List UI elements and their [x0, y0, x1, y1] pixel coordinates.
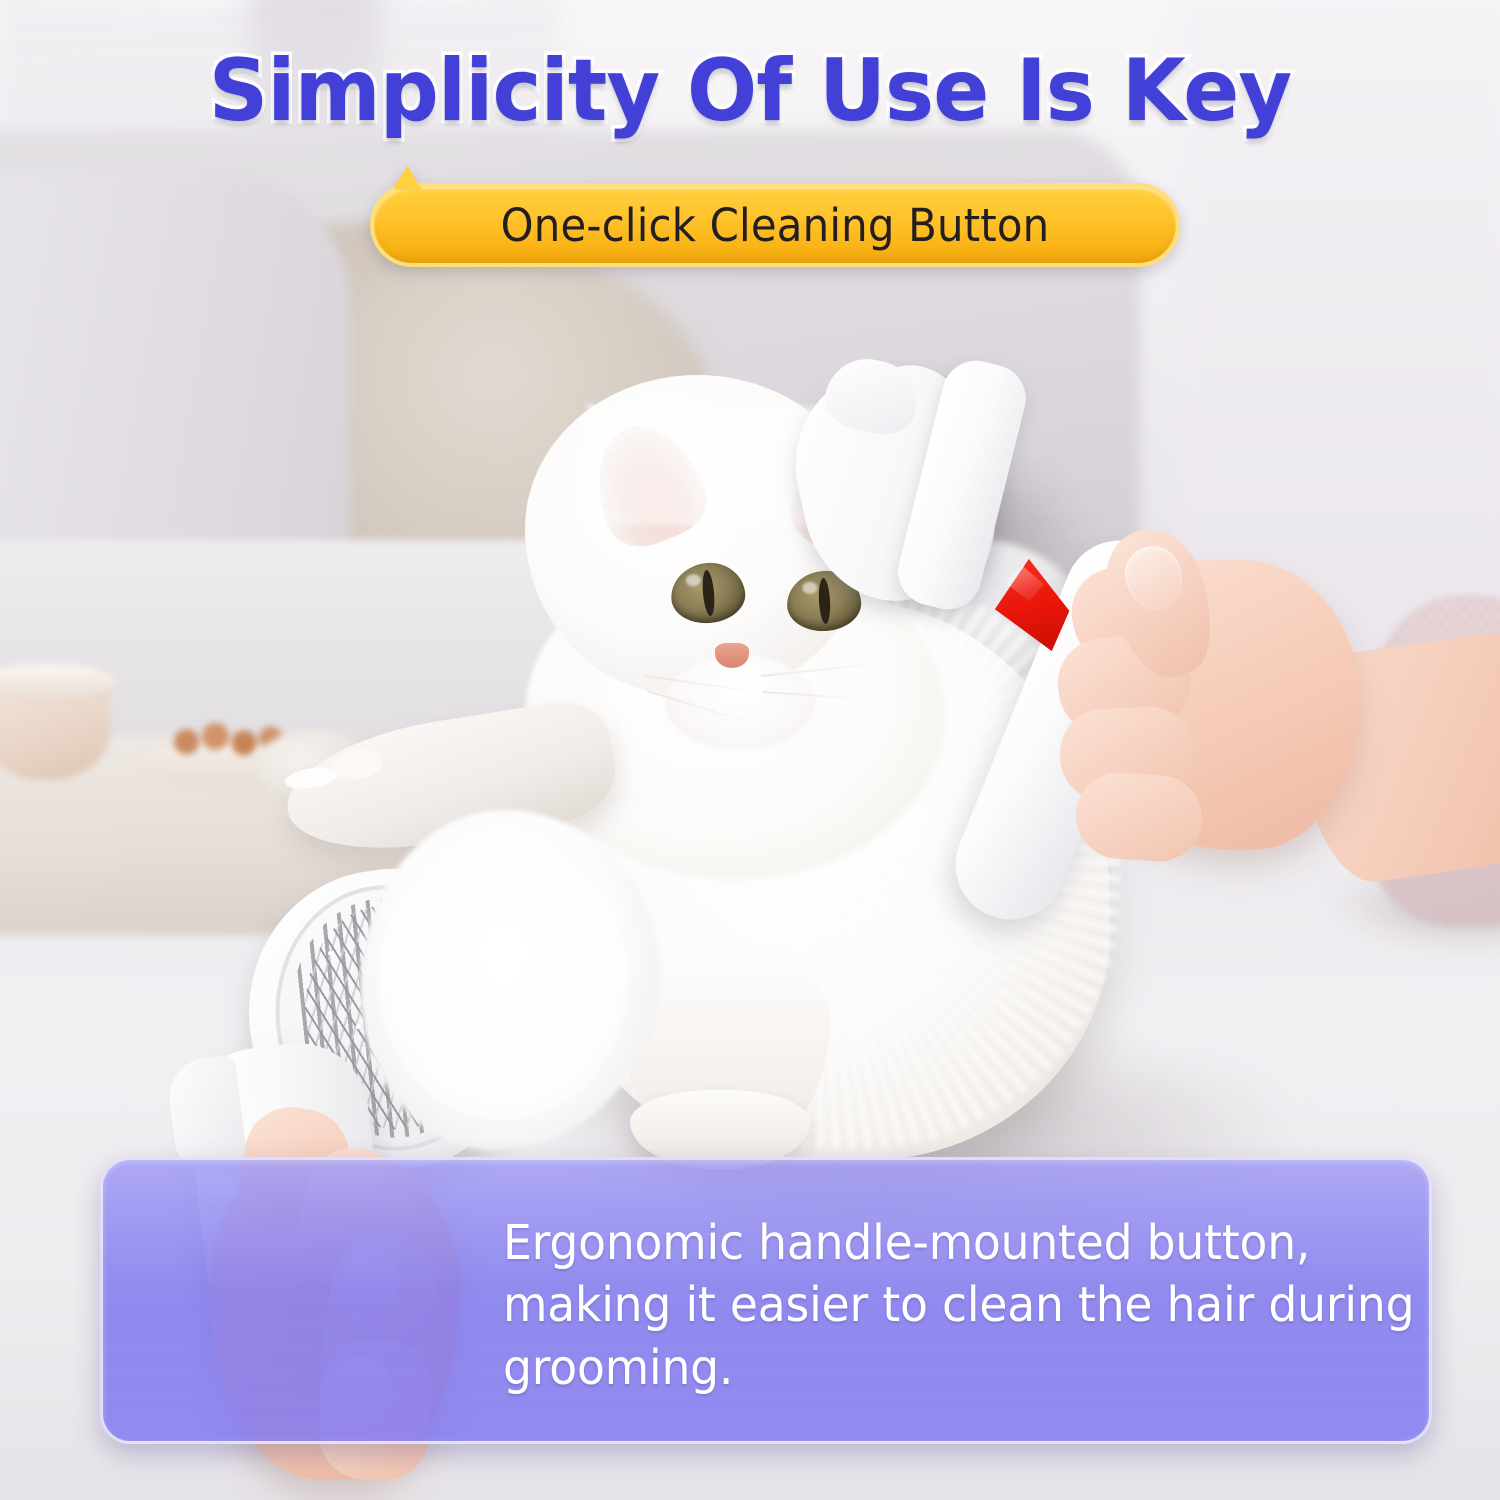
- feature-badge-label: One-click Cleaning Button: [501, 199, 1050, 252]
- right-hand: [1050, 520, 1500, 940]
- collected-fur-texture: [378, 840, 628, 1120]
- caption-panel: Ergonomic handle-mounted button, making …: [100, 1157, 1432, 1444]
- cat-eye-left: [669, 560, 748, 626]
- caption-line-1: Ergonomic handle-mounted button,: [503, 1212, 1349, 1274]
- cat-eye-highlight-left: [686, 573, 702, 586]
- cat-pupil-left: [701, 570, 716, 616]
- caption-text: Ergonomic handle-mounted button, making …: [503, 1212, 1349, 1399]
- page-title: Simplicity Of Use Is Key: [30, 48, 1470, 136]
- caption-line-2: making it easier to clean the hair durin…: [503, 1274, 1349, 1336]
- right-finger-pinky: [1073, 770, 1205, 865]
- feature-badge: One-click Cleaning Button: [370, 183, 1180, 267]
- caption-line-3: grooming.: [503, 1337, 1349, 1399]
- marketing-banner: Simplicity Of Use Is Key One-click Clean…: [0, 0, 1500, 1500]
- feature-badge-pill: One-click Cleaning Button: [370, 183, 1180, 267]
